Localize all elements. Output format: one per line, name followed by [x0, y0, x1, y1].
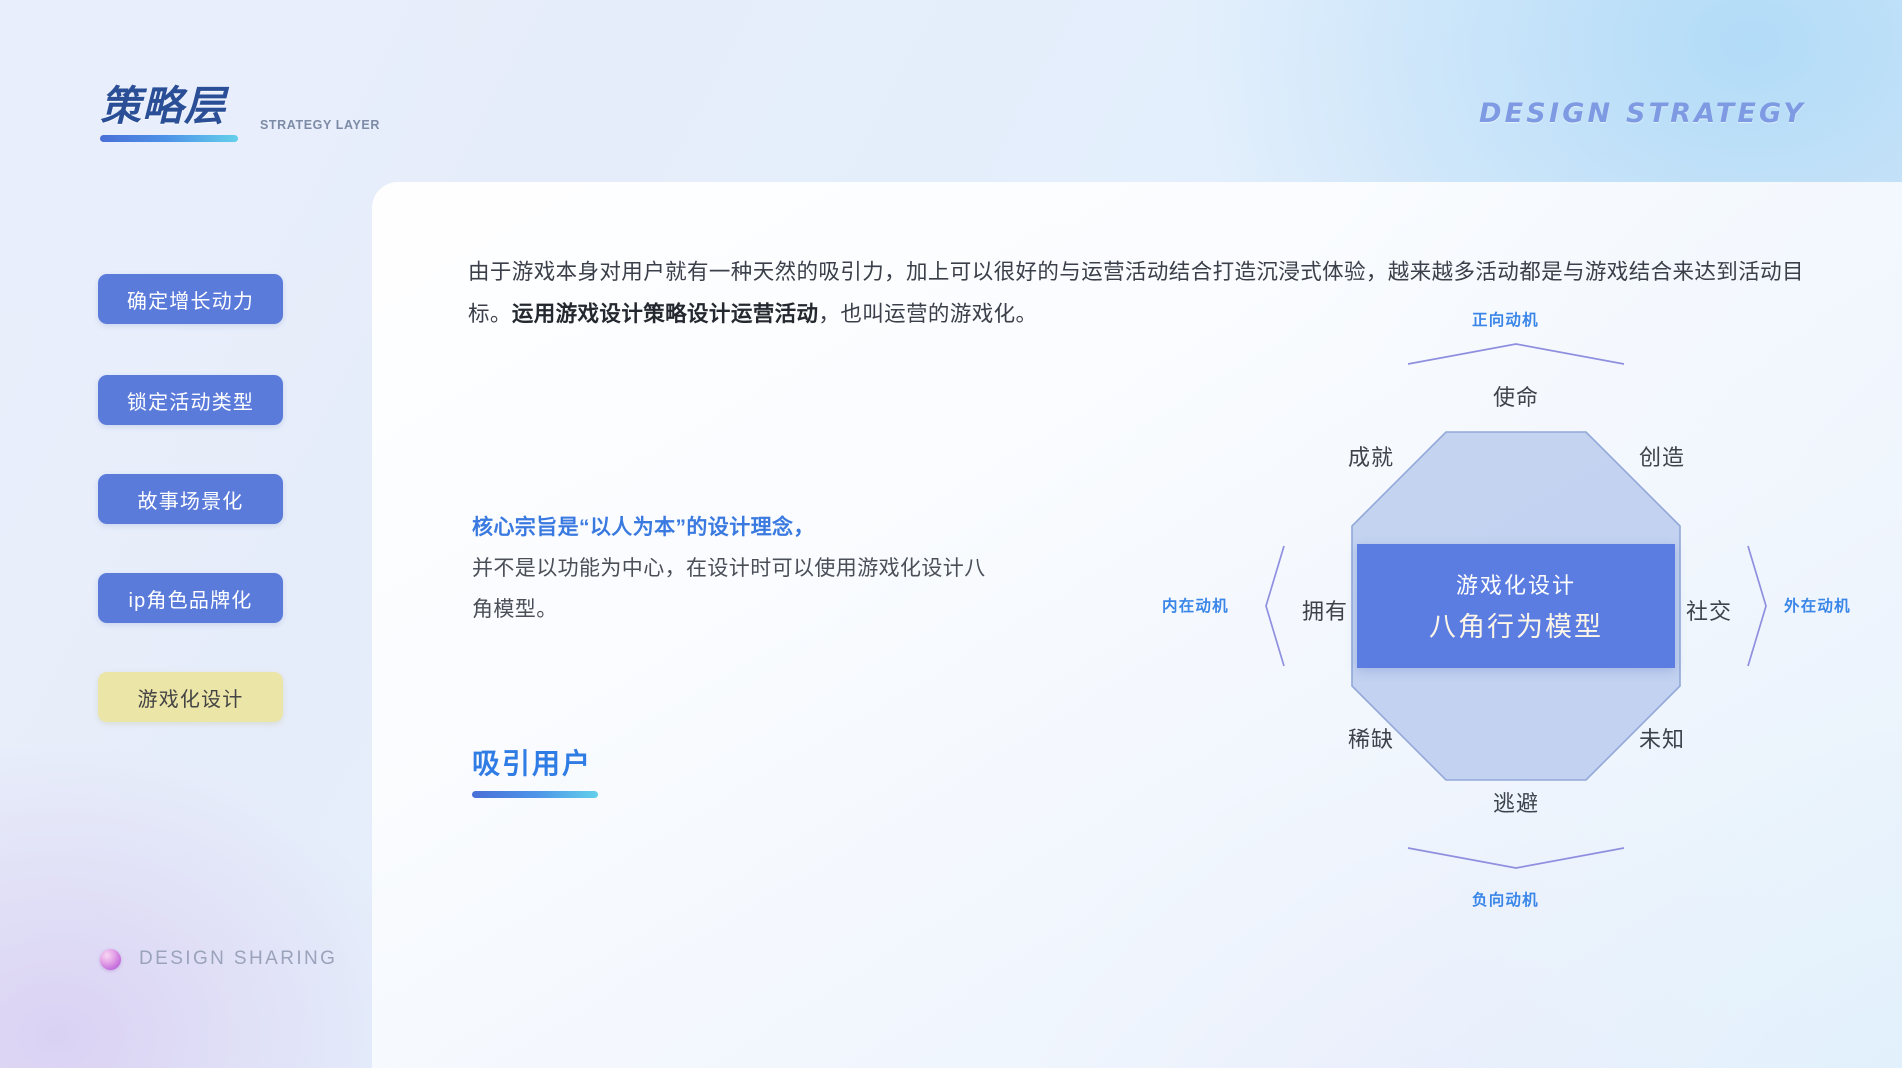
intro-part2: ，也叫运营的游戏化。	[818, 302, 1037, 326]
sidebar-item-growth-drivers[interactable]: 确定增长动力	[98, 274, 283, 324]
sidebar-item-gamification[interactable]: 游戏化设计	[98, 672, 283, 722]
drive-label-social: 社交	[1686, 594, 1732, 626]
axis-label-positive-motivation: 正向动机	[1472, 308, 1539, 330]
section-heading-text: 吸引用户	[472, 742, 598, 782]
right-bracket-icon	[1748, 546, 1766, 666]
octagon-behavior-model-diagram: 游戏化设计 八角行为模型 正向动机 负向动机 内在动机 外在动机 使命 成就 创…	[1162, 308, 1882, 928]
intro-emphasis: 运用游戏设计策略设计运营活动	[512, 302, 819, 326]
center-line-2: 八角行为模型	[1429, 605, 1603, 644]
drive-label-scarcity: 稀缺	[1348, 722, 1394, 754]
left-bracket-icon	[1266, 546, 1284, 666]
drive-label-unpredictability: 未知	[1639, 722, 1685, 754]
axis-label-negative-motivation: 负向动机	[1472, 888, 1539, 910]
section-heading: 吸引用户	[472, 742, 598, 798]
drive-label-meaning: 使命	[1493, 380, 1539, 412]
drive-label-empowerment: 创造	[1639, 440, 1685, 472]
gradient-orb-icon	[100, 949, 121, 970]
lead-highlight: 核心宗旨是“以人为本”的设计理念，	[472, 516, 815, 539]
drive-label-ownership: 拥有	[1302, 594, 1348, 626]
drive-label-avoidance: 逃避	[1493, 786, 1539, 818]
top-bracket-icon	[1408, 344, 1624, 364]
axis-label-intrinsic-motivation: 内在动机	[1162, 594, 1229, 616]
drive-label-accomplishment: 成就	[1348, 440, 1394, 472]
brand-title: DESIGN STRATEGY	[1479, 98, 1806, 129]
section-heading-underline	[472, 791, 598, 798]
lead-paragraph: 核心宗旨是“以人为本”的设计理念，并不是以功能为中心，在设计时可以使用游戏化设计…	[472, 508, 992, 631]
footer-brand-label: DESIGN SHARING	[139, 948, 337, 970]
sidebar-item-activity-type[interactable]: 锁定活动类型	[98, 375, 283, 425]
slide-root: 策略层 STRATEGY LAYER DESIGN STRATEGY 确定增长动…	[0, 0, 1902, 1068]
lead-rest: 并不是以功能为中心，在设计时可以使用游戏化设计八角模型。	[472, 557, 986, 621]
bottom-bracket-icon	[1408, 848, 1624, 868]
center-line-1: 游戏化设计	[1456, 568, 1576, 600]
sidebar: 确定增长动力 锁定活动类型 故事场景化 ip角色品牌化 游戏化设计 DESIGN…	[0, 0, 372, 1068]
octagon-center-box: 游戏化设计 八角行为模型	[1357, 544, 1675, 668]
content-panel: 由于游戏本身对用户就有一种天然的吸引力，加上可以很好的与运营活动结合打造沉浸式体…	[372, 182, 1902, 1068]
sidebar-item-story-scenario[interactable]: 故事场景化	[98, 474, 283, 524]
footer-brand: DESIGN SHARING	[100, 948, 337, 970]
sidebar-item-ip-branding[interactable]: ip角色品牌化	[98, 573, 283, 623]
axis-label-extrinsic-motivation: 外在动机	[1784, 594, 1851, 616]
